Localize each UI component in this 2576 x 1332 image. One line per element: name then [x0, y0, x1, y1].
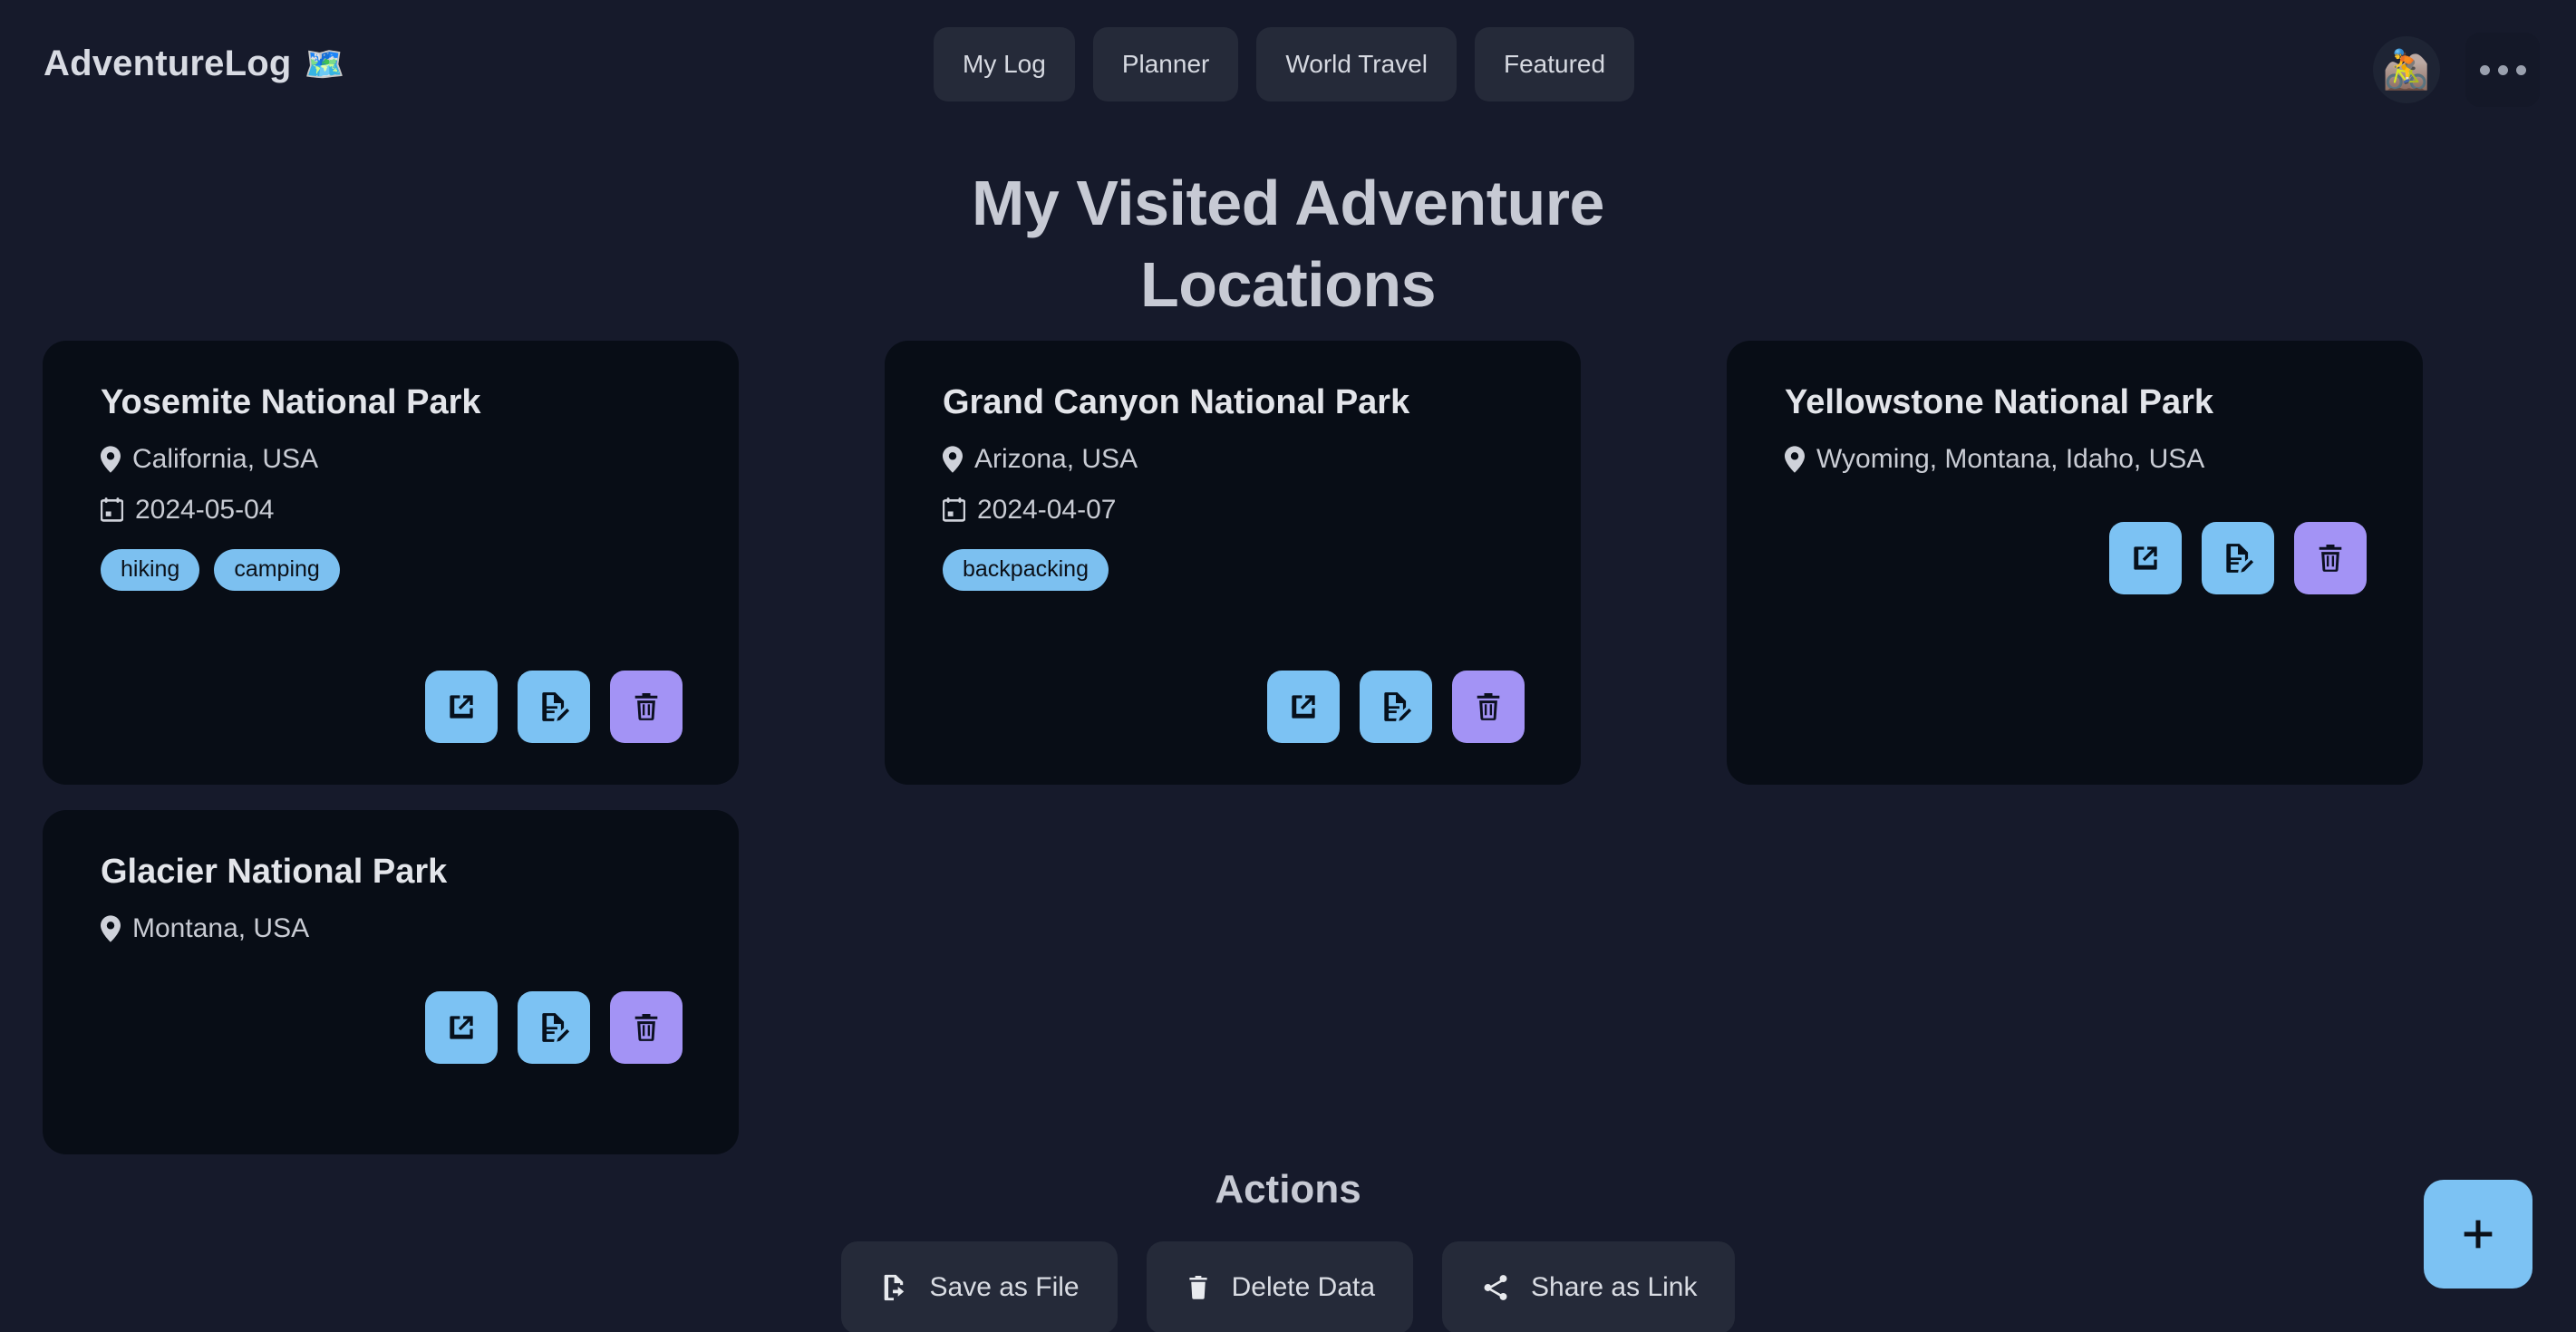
trash-icon — [2314, 542, 2347, 574]
open-external-button[interactable] — [1267, 671, 1340, 743]
card-date: 2024-04-07 — [943, 495, 1525, 526]
card-location: Wyoming, Montana, Idaho, USA — [1785, 444, 2367, 475]
location-pin-icon — [101, 446, 121, 473]
top-bar-right-group: 🚵 — [2373, 33, 2540, 107]
edit-document-button[interactable] — [2202, 522, 2274, 594]
card-location-label: Wyoming, Montana, Idaho, USA — [1816, 444, 2204, 475]
share-icon — [1480, 1272, 1511, 1303]
card-title: Glacier National Park — [101, 852, 683, 893]
document-edit-icon — [537, 1010, 571, 1045]
ellipsis-icon-dot — [2516, 65, 2526, 75]
card-action-buttons — [943, 647, 1525, 743]
open-external-button[interactable] — [425, 671, 498, 743]
trash-icon — [1185, 1272, 1212, 1303]
tag[interactable]: camping — [214, 549, 340, 591]
world-map-icon: 🗺️ — [305, 48, 345, 81]
location-pin-icon — [943, 446, 963, 473]
page-title: My Visited Adventure Locations — [880, 163, 1696, 325]
card-action-buttons — [101, 647, 683, 743]
card-title: Grand Canyon National Park — [943, 382, 1525, 424]
card-location-label: Arizona, USA — [974, 444, 1138, 475]
delete-button[interactable] — [610, 991, 683, 1064]
card-location: Montana, USA — [101, 913, 683, 944]
card-location-label: Montana, USA — [132, 913, 309, 944]
adventure-card[interactable]: Yellowstone National Park Wyoming, Monta… — [1727, 341, 2423, 785]
calendar-icon — [101, 497, 123, 522]
tag[interactable]: hiking — [101, 549, 199, 591]
delete-button[interactable] — [1452, 671, 1525, 743]
tag[interactable]: backpacking — [943, 549, 1109, 591]
trash-icon — [630, 690, 663, 723]
nav-tab-planner[interactable]: Planner — [1093, 27, 1239, 101]
nav-tab-world-travel[interactable]: World Travel — [1256, 27, 1457, 101]
card-location: Arizona, USA — [943, 444, 1525, 475]
delete-button[interactable] — [610, 671, 683, 743]
top-navigation-bar: AdventureLog 🗺️ My Log Planner World Tra… — [0, 0, 2576, 134]
adventure-card[interactable]: Glacier National Park Montana, USA — [43, 810, 739, 1154]
share-as-link-label: Share as Link — [1531, 1272, 1697, 1303]
brand-label: AdventureLog — [44, 43, 292, 84]
card-location: California, USA — [101, 444, 683, 475]
ellipsis-icon-dot — [2498, 65, 2508, 75]
card-date-label: 2024-05-04 — [135, 495, 274, 526]
delete-data-button[interactable]: Delete Data — [1147, 1241, 1413, 1332]
document-edit-icon — [2221, 541, 2255, 575]
card-tags: hiking camping — [101, 549, 683, 591]
document-edit-icon — [1379, 690, 1413, 724]
card-location-label: California, USA — [132, 444, 318, 475]
card-date: 2024-05-04 — [101, 495, 683, 526]
external-link-icon — [1286, 690, 1321, 724]
save-as-file-button[interactable]: Save as File — [841, 1241, 1118, 1332]
external-link-icon — [444, 1010, 479, 1045]
plus-icon — [2457, 1213, 2499, 1255]
delete-button[interactable] — [2294, 522, 2367, 594]
adventure-card[interactable]: Yosemite National Park California, USA 2… — [43, 341, 739, 785]
avatar[interactable]: 🚵 — [2373, 36, 2440, 103]
open-external-button[interactable] — [425, 991, 498, 1064]
nav-tab-featured[interactable]: Featured — [1475, 27, 1634, 101]
external-link-icon — [444, 690, 479, 724]
adventure-card-grid: Yosemite National Park California, USA 2… — [43, 341, 2423, 1154]
card-action-buttons — [1785, 498, 2367, 594]
actions-section: Actions Save as File Delete Data Share a… — [0, 1167, 2576, 1332]
nav-tab-my-log[interactable]: My Log — [934, 27, 1075, 101]
trash-icon — [630, 1011, 663, 1044]
trash-icon — [1472, 690, 1505, 723]
edit-document-button[interactable] — [518, 671, 590, 743]
app-brand[interactable]: AdventureLog 🗺️ — [44, 43, 345, 84]
main-nav: My Log Planner World Travel Featured — [934, 27, 1634, 101]
delete-data-label: Delete Data — [1232, 1272, 1375, 1303]
save-as-file-label: Save as File — [930, 1272, 1080, 1303]
card-tags: backpacking — [943, 549, 1525, 591]
actions-button-row: Save as File Delete Data Share as Link — [0, 1241, 2576, 1332]
mountain-biker-icon: 🚵 — [2383, 51, 2430, 89]
open-external-button[interactable] — [2109, 522, 2182, 594]
location-pin-icon — [101, 915, 121, 942]
share-as-link-button[interactable]: Share as Link — [1442, 1241, 1735, 1332]
card-action-buttons — [101, 968, 683, 1064]
card-title: Yosemite National Park — [101, 382, 683, 424]
document-edit-icon — [537, 690, 571, 724]
location-pin-icon — [1785, 446, 1805, 473]
card-date-label: 2024-04-07 — [977, 495, 1116, 526]
card-title: Yellowstone National Park — [1785, 382, 2367, 424]
file-export-icon — [879, 1272, 910, 1303]
actions-title: Actions — [0, 1167, 2576, 1212]
adventure-card[interactable]: Grand Canyon National Park Arizona, USA … — [885, 341, 1581, 785]
overflow-menu-button[interactable] — [2465, 33, 2540, 107]
edit-document-button[interactable] — [518, 991, 590, 1064]
ellipsis-icon-dot — [2480, 65, 2490, 75]
external-link-icon — [2128, 541, 2163, 575]
add-adventure-fab[interactable] — [2424, 1180, 2532, 1289]
edit-document-button[interactable] — [1360, 671, 1432, 743]
calendar-icon — [943, 497, 965, 522]
